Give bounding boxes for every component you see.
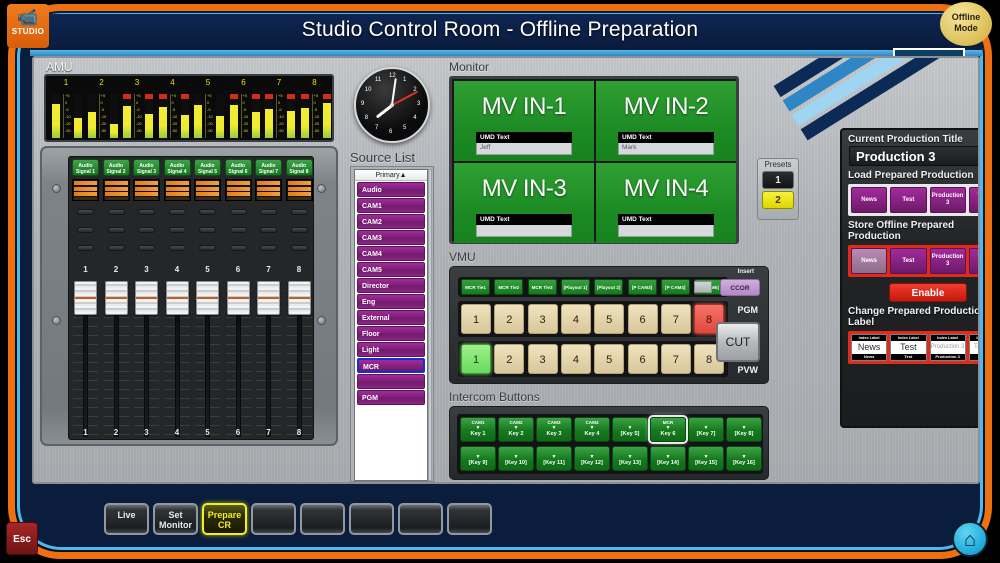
store-production-button[interactable]: News — [851, 248, 887, 274]
vmu-source-button[interactable]: [P CAM4] — [661, 279, 690, 295]
umd-value[interactable] — [618, 225, 714, 237]
intercom-keys-area: CAM1▼Key 1CAM2▼Key 2CAM3▼Key 3CAM4▼Key 4… — [457, 414, 763, 474]
amu-channel: 5+50-5-10-20-50 — [192, 78, 226, 140]
source-list-item[interactable]: Eng — [357, 294, 425, 309]
function-button-line1: Prepare — [204, 510, 245, 520]
intercom-key[interactable]: CAM3▼Key 3 — [536, 417, 572, 442]
esc-button[interactable]: Esc — [6, 522, 38, 555]
strip-knob-2[interactable] — [291, 227, 308, 233]
source-list-item[interactable]: External — [357, 310, 425, 325]
change-label-value: Test — [891, 341, 925, 354]
offline-mode-line1: Offline — [940, 12, 992, 23]
strip-knob-1[interactable] — [260, 209, 277, 215]
vmu-pvw-key[interactable]: 4 — [561, 344, 591, 374]
strip-number-top: 2 — [102, 265, 131, 274]
amu-bar-right — [287, 94, 295, 138]
amu-bar-right — [110, 94, 118, 138]
umd-field[interactable]: UMD Text — [618, 214, 714, 237]
source-list-scrollbar[interactable] — [428, 169, 432, 481]
audio-console: AudioSignal 111AudioSignal 222AudioSigna… — [40, 146, 338, 446]
change-label-value: News — [852, 341, 886, 354]
multiviewer-tile-name: MV IN-1 — [454, 93, 594, 121]
multiviewer-panel: MV IN-1UMD TextJeffMV IN-2UMD TextMarkMV… — [449, 76, 739, 244]
strip-number-bottom: 3 — [132, 428, 161, 437]
monitor-label: Monitor — [449, 60, 489, 74]
strip-knob-1[interactable] — [199, 209, 216, 215]
intercom-key[interactable]: ▼[Key 16] — [726, 446, 762, 471]
clock-center-pin — [390, 103, 394, 107]
amu-bar-left — [88, 94, 96, 138]
page-title: Studio Control Room - Offline Preparatio… — [0, 18, 1000, 42]
vmu-pgm-key[interactable]: 1 — [461, 304, 491, 334]
clock-numeral: 1 — [403, 77, 406, 83]
intercom-label: Intercom Buttons — [449, 390, 540, 404]
function-button-line1: Live — [106, 510, 147, 520]
function-button[interactable] — [447, 503, 492, 535]
amu-channel-number: 7 — [263, 78, 297, 88]
studio-badge-label: STUDIO — [7, 27, 49, 36]
change-label-heading: Change Prepared Production Label — [842, 302, 978, 329]
strip-number-bottom: 5 — [193, 428, 222, 437]
vmu-pgm-key[interactable]: 6 — [628, 304, 658, 334]
amu-bar-right — [145, 94, 153, 138]
console-strip: AudioSignal 888 — [285, 157, 314, 439]
offline-mode-line2: Mode — [940, 23, 992, 34]
strip-display — [255, 179, 282, 201]
amu-bar-right — [216, 94, 224, 138]
amu-scale: +50-5-10-20-50 — [276, 94, 285, 138]
function-button[interactable] — [349, 503, 394, 535]
console-strip: AudioSignal 444 — [163, 157, 192, 439]
console-screw — [317, 316, 326, 325]
function-button-line1 — [302, 510, 343, 520]
strip-fader-handle[interactable] — [135, 281, 158, 315]
load-production-row: NewsTestProduction3Talk at10 — [848, 184, 978, 216]
change-label-value: Production 3 — [931, 341, 965, 354]
umd-value[interactable]: Jeff — [476, 143, 572, 155]
umd-value[interactable]: Mark — [618, 143, 714, 155]
strip-knob-1[interactable] — [108, 209, 125, 215]
strip-number-top: 1 — [71, 265, 100, 274]
vmu-source-button[interactable]: [Playout 1] — [561, 279, 590, 295]
strip-knob-2[interactable] — [138, 227, 155, 233]
vmu-slider-handle[interactable] — [694, 281, 712, 293]
amu-bar-right — [323, 94, 331, 138]
amu-meter-panel: 1+50-5-10-20-502+50-5-10-20-503+50-5-10-… — [44, 74, 334, 142]
intercom-key-label: [Key 8] — [727, 430, 761, 438]
multiviewer-tile[interactable]: MV IN-4UMD Text — [596, 163, 736, 243]
source-list-item[interactable]: CAM2 — [357, 214, 425, 229]
vmu-pgm-key[interactable]: 4 — [561, 304, 591, 334]
intercom-key[interactable]: CAM4▼Key 4 — [574, 417, 610, 442]
source-list-item[interactable]: CAM4 — [357, 246, 425, 261]
console-strip: AudioSignal 222 — [102, 157, 131, 439]
amu-channel: 8+50-5-10-20-50 — [299, 78, 333, 140]
source-list-item[interactable]: Floor — [357, 326, 425, 341]
vmu-pvw-key[interactable]: 1 — [461, 344, 491, 374]
strip-source-button[interactable]: AudioSignal 6 — [225, 159, 252, 176]
strip-knob-3[interactable] — [77, 245, 94, 251]
clock-numeral: 10 — [365, 87, 372, 93]
change-label-row: Index LabelNewsNewsIndex LabelTestTestIn… — [848, 331, 978, 364]
strip-number-bottom: 4 — [163, 428, 192, 437]
app-root: Studio Control Room - Offline Preparatio… — [0, 0, 1000, 563]
vmu-pvw-key[interactable]: 5 — [594, 344, 624, 374]
intercom-key[interactable]: ▼[Key 8] — [726, 417, 762, 442]
amu-channel: 6+50-5-10-20-50 — [228, 78, 262, 140]
amu-bar-right — [252, 94, 260, 138]
strip-number-top: 4 — [163, 265, 192, 274]
strip-display — [164, 179, 191, 201]
amu-channel: 2+50-5-10-20-50 — [86, 78, 120, 140]
strip-knob-2[interactable] — [260, 227, 277, 233]
change-label-footer: Talk at 10 — [970, 354, 978, 360]
load-production-button[interactable]: Talk at10 — [969, 187, 978, 213]
clock-numeral: 6 — [389, 129, 392, 135]
source-list-item[interactable]: PGM — [357, 390, 425, 405]
strip-source-button[interactable]: AudioSignal 8 — [286, 159, 313, 176]
amu-channel: 7+50-5-10-20-50 — [263, 78, 297, 140]
source-list-item[interactable]: CAM1 — [357, 198, 425, 213]
intercom-key-label: Key 2 — [499, 430, 533, 438]
umd-value[interactable] — [476, 225, 572, 237]
vmu-pgm-key[interactable]: 7 — [661, 304, 691, 334]
load-production-button[interactable]: Test — [890, 187, 926, 213]
strip-display — [225, 179, 252, 201]
sort-indicator-icon: ▲ — [400, 172, 407, 179]
strip-knob-1[interactable] — [230, 209, 247, 215]
source-list-item[interactable]: Director — [357, 278, 425, 293]
vmu-pvw-key[interactable]: 7 — [661, 344, 691, 374]
vmu-pgm-bank: 12345678 — [458, 301, 728, 337]
intercom-key-label: [Key 9] — [461, 459, 495, 467]
amu-channel-number: 8 — [299, 78, 333, 88]
strip-knob-3[interactable] — [199, 245, 216, 251]
amu-scale: +50-5-10-20-50 — [63, 94, 72, 138]
vmu-label: VMU — [449, 250, 476, 264]
multiviewer-tile[interactable]: MV IN-2UMD TextMark — [596, 81, 736, 161]
strip-knob-1[interactable] — [169, 209, 186, 215]
console-strip: AudioSignal 333 — [132, 157, 161, 439]
main-work-area: AMU 1+50-5-10-20-502+50-5-10-20-503+50-5… — [32, 56, 980, 484]
strip-fader-handle[interactable] — [227, 281, 250, 315]
clock-numeral: 11 — [375, 77, 381, 83]
intercom-key-label: Key 3 — [537, 430, 571, 438]
source-list-scroll-area[interactable]: Primary▲ AudioCAM1CAM2CAM3CAM4CAM5Direct… — [354, 169, 428, 481]
studio-badge[interactable]: 📹 STUDIO — [7, 4, 49, 48]
multiviewer-tile-name: MV IN-2 — [596, 93, 736, 121]
vmu-panel: Insert MCR Tie1MCR Tie2MCR Tie3[Playout … — [449, 266, 769, 384]
multiviewer-tile-name: MV IN-3 — [454, 175, 594, 203]
clock-numeral: 5 — [403, 125, 406, 131]
insert-label: Insert — [738, 269, 754, 275]
amu-bar-left — [301, 94, 309, 138]
umd-header: UMD Text — [618, 214, 714, 225]
broadcast-monitor-icon: 📹 — [7, 8, 49, 27]
strip-display — [133, 179, 160, 201]
strip-source-button[interactable]: AudioSignal 1 — [72, 159, 99, 176]
umd-header: UMD Text — [476, 214, 572, 225]
intercom-key[interactable]: ▼[Key 12] — [574, 446, 610, 471]
amu-channel-number: 1 — [50, 78, 84, 88]
strip-knob-1[interactable] — [138, 209, 155, 215]
presets-label: Presets — [758, 159, 798, 169]
source-list-panel: Primary▲ AudioCAM1CAM2CAM3CAM4CAM5Direct… — [350, 166, 434, 482]
amu-channel-number: 3 — [121, 78, 155, 88]
umd-field[interactable]: UMD Text — [476, 214, 572, 237]
strip-number-top: 5 — [193, 265, 222, 274]
function-button-line1: Set — [155, 510, 196, 520]
vmu-source-button[interactable]: [P CAM3] — [628, 279, 657, 295]
amu-label: AMU — [46, 60, 73, 74]
console-strip: AudioSignal 111 — [71, 157, 100, 439]
production-panel: Current Production Title Production 3 Lo… — [840, 128, 978, 428]
analog-clock: 121234567891011 — [354, 67, 430, 143]
amu-bar-left — [194, 94, 202, 138]
strip-fader-handle[interactable] — [288, 281, 311, 315]
intercom-key-label: [Key 14] — [651, 459, 685, 467]
console-screw — [52, 184, 61, 193]
intercom-key-label: [Key 11] — [537, 459, 571, 467]
change-label-button[interactable]: Index LabelNewsNews — [851, 334, 887, 361]
source-list-item[interactable]: MCR — [357, 358, 425, 373]
strip-source-button[interactable]: AudioSignal 7 — [255, 159, 282, 176]
vmu-pvw-key[interactable]: 2 — [494, 344, 524, 374]
source-list-label: Source List — [350, 150, 415, 165]
strip-knob-3[interactable] — [260, 245, 277, 251]
change-label-value: Talk at 10 — [970, 341, 978, 354]
amu-bar-right — [181, 94, 189, 138]
intercom-key-label: [Key 13] — [613, 459, 647, 467]
cut-button[interactable]: CUT — [716, 322, 760, 362]
vmu-insert-ccor-button[interactable]: CCOR — [720, 279, 760, 296]
umd-field[interactable]: UMD TextJeff — [476, 132, 572, 155]
strip-number-bottom: 8 — [285, 428, 314, 437]
clock-numeral: 8 — [365, 115, 368, 121]
amu-scale: +50-5-10-20-50 — [170, 94, 179, 138]
function-button[interactable]: SetMonitor — [153, 503, 198, 535]
strip-knob-2[interactable] — [230, 227, 247, 233]
umd-header: UMD Text — [618, 132, 714, 143]
store-production-button[interactable]: Talk at10 — [969, 248, 978, 274]
amu-scale: +50-5-10-20-50 — [134, 94, 143, 138]
amu-bar-left — [52, 94, 60, 138]
intercom-key[interactable]: MCR▼Key 6 — [650, 417, 686, 442]
amu-channel: 3+50-5-10-20-50 — [121, 78, 155, 140]
strip-fader-handle[interactable] — [196, 281, 219, 315]
strip-knob-3[interactable] — [169, 245, 186, 251]
vmu-pvw-key[interactable]: 3 — [528, 344, 558, 374]
amu-bar-left — [123, 94, 131, 138]
function-button[interactable] — [300, 503, 345, 535]
presets-panel: Presets 12 — [757, 158, 799, 220]
store-production-button[interactable]: Production3 — [930, 248, 966, 274]
clock-numeral: 7 — [375, 125, 378, 131]
home-icon[interactable]: ⌂ — [952, 521, 988, 557]
vmu-pgm-key[interactable]: 2 — [494, 304, 524, 334]
change-label-button[interactable]: Index LabelTestTest — [890, 334, 926, 361]
strip-display — [286, 179, 313, 201]
strip-knob-3[interactable] — [138, 245, 155, 251]
console-strips: AudioSignal 111AudioSignal 222AudioSigna… — [68, 156, 314, 440]
amu-channel-number: 6 — [228, 78, 262, 88]
strip-number-top: 3 — [132, 265, 161, 274]
strip-knob-3[interactable] — [291, 245, 308, 251]
amu-scale: +50-5-10-20-50 — [99, 94, 108, 138]
intercom-key[interactable]: ▼[Key 7] — [688, 417, 724, 442]
vmu-pgm-key[interactable]: 5 — [594, 304, 624, 334]
change-label-footer: Production 3 — [931, 354, 965, 360]
clock-numeral: 4 — [413, 115, 416, 121]
source-list-item[interactable] — [357, 374, 425, 389]
multiviewer-tile[interactable]: MV IN-3UMD Text — [454, 163, 594, 243]
strip-source-button[interactable]: AudioSignal 3 — [133, 159, 160, 176]
strip-number-bottom: 1 — [71, 428, 100, 437]
console-strip: AudioSignal 555 — [193, 157, 222, 439]
strip-knob-1[interactable] — [291, 209, 308, 215]
intercom-key[interactable]: ▼[Key 13] — [612, 446, 648, 471]
change-label-footer: News — [852, 354, 886, 360]
intercom-key-label: [Key 16] — [727, 459, 761, 467]
function-button-line1 — [400, 510, 441, 520]
umd-field[interactable]: UMD TextMark — [618, 132, 714, 155]
amu-bar-left — [265, 94, 273, 138]
intercom-panel: CAM1▼Key 1CAM2▼Key 2CAM3▼Key 3CAM4▼Key 4… — [449, 406, 769, 480]
strip-fader-handle[interactable] — [166, 281, 189, 315]
vmu-source-row: MCR Tie1MCR Tie2MCR Tie3[Playout 1][Play… — [458, 277, 728, 297]
intercom-key-label: [Key 10] — [499, 459, 533, 467]
strip-knob-2[interactable] — [108, 227, 125, 233]
intercom-key[interactable]: ▼[Key 10] — [498, 446, 534, 471]
status-badge-offline-mode: Offline Mode — [940, 2, 992, 46]
intercom-key-label: [Key 12] — [575, 459, 609, 467]
strip-knob-3[interactable] — [230, 245, 247, 251]
strip-number-top: 7 — [254, 265, 283, 274]
intercom-key[interactable]: ▼[Key 5] — [612, 417, 648, 442]
clock-numeral: 3 — [417, 101, 420, 107]
current-production-title-value: Production 3 — [849, 146, 978, 166]
store-production-label: Store Offline Prepared Production — [842, 216, 978, 243]
vmu-pvw-bank: 12345678 — [458, 341, 728, 377]
strip-source-button[interactable]: AudioSignal 2 — [103, 159, 130, 176]
function-button[interactable] — [251, 503, 296, 535]
current-production-title-label: Current Production Title — [842, 130, 978, 146]
multiviewer-tile-name: MV IN-4 — [596, 175, 736, 203]
strip-knob-2[interactable] — [169, 227, 186, 233]
amu-bar-left — [230, 94, 238, 138]
load-production-button[interactable]: News — [851, 187, 887, 213]
source-list-item[interactable]: CAM5 — [357, 262, 425, 277]
amu-scale: +50-5-10-20-50 — [205, 94, 214, 138]
strip-knob-1[interactable] — [77, 209, 94, 215]
pvw-label: PVW — [737, 365, 758, 375]
source-list-column-header[interactable]: Primary▲ — [355, 170, 427, 181]
intercom-key[interactable]: ▼[Key 15] — [688, 446, 724, 471]
source-list-item[interactable]: CAM3 — [357, 230, 425, 245]
change-label-button[interactable]: Index LabelProduction 3Production 3 — [930, 334, 966, 361]
function-button-line1 — [253, 510, 294, 520]
multiviewer-tile[interactable]: MV IN-1UMD TextJeff — [454, 81, 594, 161]
intercom-key[interactable]: ▼[Key 9] — [460, 446, 496, 471]
vmu-source-button[interactable]: MCR Tie2 — [494, 279, 523, 295]
console-strip: AudioSignal 666 — [224, 157, 253, 439]
source-list-item[interactable]: Light — [357, 342, 425, 357]
source-list-column-header-label: Primary — [375, 172, 399, 179]
amu-channel: 4+50-5-10-20-50 — [157, 78, 191, 140]
vmu-source-button[interactable]: [Playout 2] — [594, 279, 623, 295]
strip-number-bottom: 6 — [224, 428, 253, 437]
strip-fader-handle[interactable] — [105, 281, 128, 315]
function-button[interactable]: Live — [104, 503, 149, 535]
strip-knob-2[interactable] — [77, 227, 94, 233]
strip-display — [194, 179, 221, 201]
amu-scale: +50-5-10-20-50 — [241, 94, 250, 138]
function-button[interactable]: PrepareCR — [202, 503, 247, 535]
change-label-button[interactable]: Index LabelTalk at 10Talk at 10 — [969, 334, 978, 361]
strip-knob-2[interactable] — [199, 227, 216, 233]
intercom-key[interactable]: ▼[Key 14] — [650, 446, 686, 471]
intercom-key-label: Key 1 — [461, 430, 495, 438]
strip-source-button[interactable]: AudioSignal 5 — [194, 159, 221, 176]
console-screw — [317, 184, 326, 193]
strip-fader-handle[interactable] — [74, 281, 97, 315]
strip-knob-3[interactable] — [108, 245, 125, 251]
store-production-row: NewsTestProduction3Talk at10 — [848, 245, 978, 277]
strip-source-button[interactable]: AudioSignal 4 — [164, 159, 191, 176]
strip-number-top: 6 — [224, 265, 253, 274]
store-production-button[interactable]: Test — [890, 248, 926, 274]
clock-numeral: 9 — [361, 101, 364, 107]
amu-channel-number: 5 — [192, 78, 226, 88]
load-production-button[interactable]: Production3 — [930, 187, 966, 213]
function-button-line2: Monitor — [155, 520, 196, 530]
strip-number-bottom: 2 — [102, 428, 131, 437]
intercom-key-label: [Key 7] — [689, 430, 723, 438]
bottom-toolbar — [0, 488, 1000, 563]
intercom-key-label: Key 6 — [651, 430, 685, 438]
vmu-pgm-key[interactable]: 3 — [528, 304, 558, 334]
intercom-key[interactable]: CAM1▼Key 1 — [460, 417, 496, 442]
vmu-source-button[interactable]: MCR Tie3 — [528, 279, 557, 295]
function-button[interactable] — [398, 503, 443, 535]
console-strip: AudioSignal 777 — [254, 157, 283, 439]
umd-header: UMD Text — [476, 132, 572, 143]
function-button-line2: CR — [204, 520, 245, 530]
intercom-key-label: [Key 15] — [689, 459, 723, 467]
pgm-label: PGM — [737, 305, 758, 315]
vmu-source-button[interactable]: MCR Tie1 — [461, 279, 490, 295]
source-list-item[interactable]: Audio — [357, 182, 425, 197]
strip-fader-handle[interactable] — [257, 281, 280, 315]
load-production-label: Load Prepared Production — [842, 166, 978, 182]
intercom-key-label: [Key 5] — [613, 430, 647, 438]
preset-button[interactable]: 2 — [762, 191, 794, 209]
console-screw — [52, 316, 61, 325]
vmu-pvw-key[interactable]: 6 — [628, 344, 658, 374]
strip-number-bottom: 7 — [254, 428, 283, 437]
strip-display — [72, 179, 99, 201]
enable-button[interactable]: Enable — [889, 283, 967, 302]
change-label-footer: Test — [891, 354, 925, 360]
strip-display — [103, 179, 130, 201]
preset-button[interactable]: 1 — [762, 171, 794, 189]
amu-bar-left — [159, 94, 167, 138]
function-button-line1 — [449, 510, 490, 520]
intercom-key[interactable]: ▼[Key 11] — [536, 446, 572, 471]
strip-number-top: 8 — [285, 265, 314, 274]
clock-hand-sh — [392, 91, 418, 106]
intercom-key[interactable]: CAM2▼Key 2 — [498, 417, 534, 442]
